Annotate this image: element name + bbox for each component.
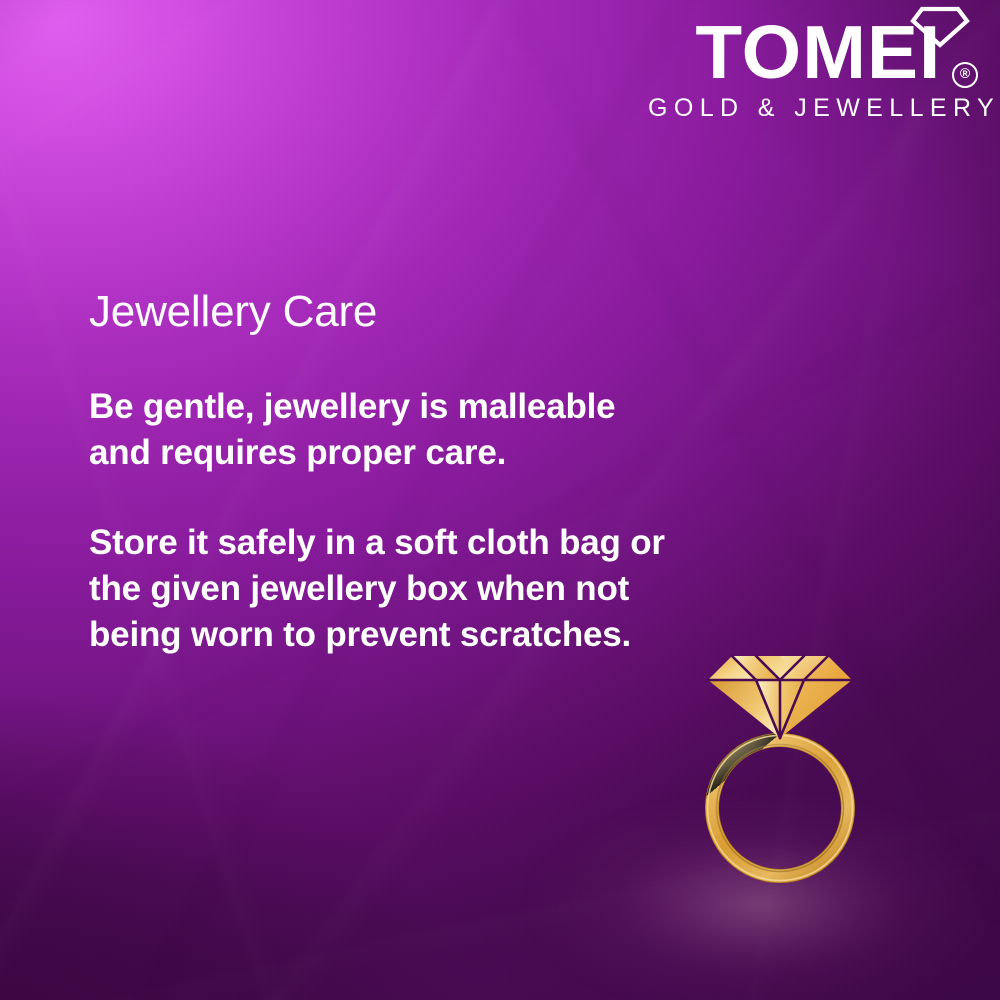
care-copy-block: Jewellery Care Be gentle, jewellery is m… [89, 288, 669, 658]
care-paragraph-1: Be gentle, jewellery is malleable and re… [89, 384, 669, 476]
brand-wordmark-row: TOMEI ® [648, 12, 978, 92]
brand-wordmark: TOMEI [641, 12, 978, 92]
page-title: Jewellery Care [89, 288, 669, 336]
care-paragraph-2: Store it safely in a soft cloth bag or t… [89, 520, 669, 658]
brand-logo[interactable]: TOMEI ® GOLD & JEWELLERY [648, 12, 978, 123]
registered-trademark-icon: ® [952, 62, 978, 88]
poster-canvas: TOMEI ® GOLD & JEWELLERY Jewellery Care … [0, 0, 1000, 1000]
brand-tagline: GOLD & JEWELLERY [648, 94, 978, 123]
